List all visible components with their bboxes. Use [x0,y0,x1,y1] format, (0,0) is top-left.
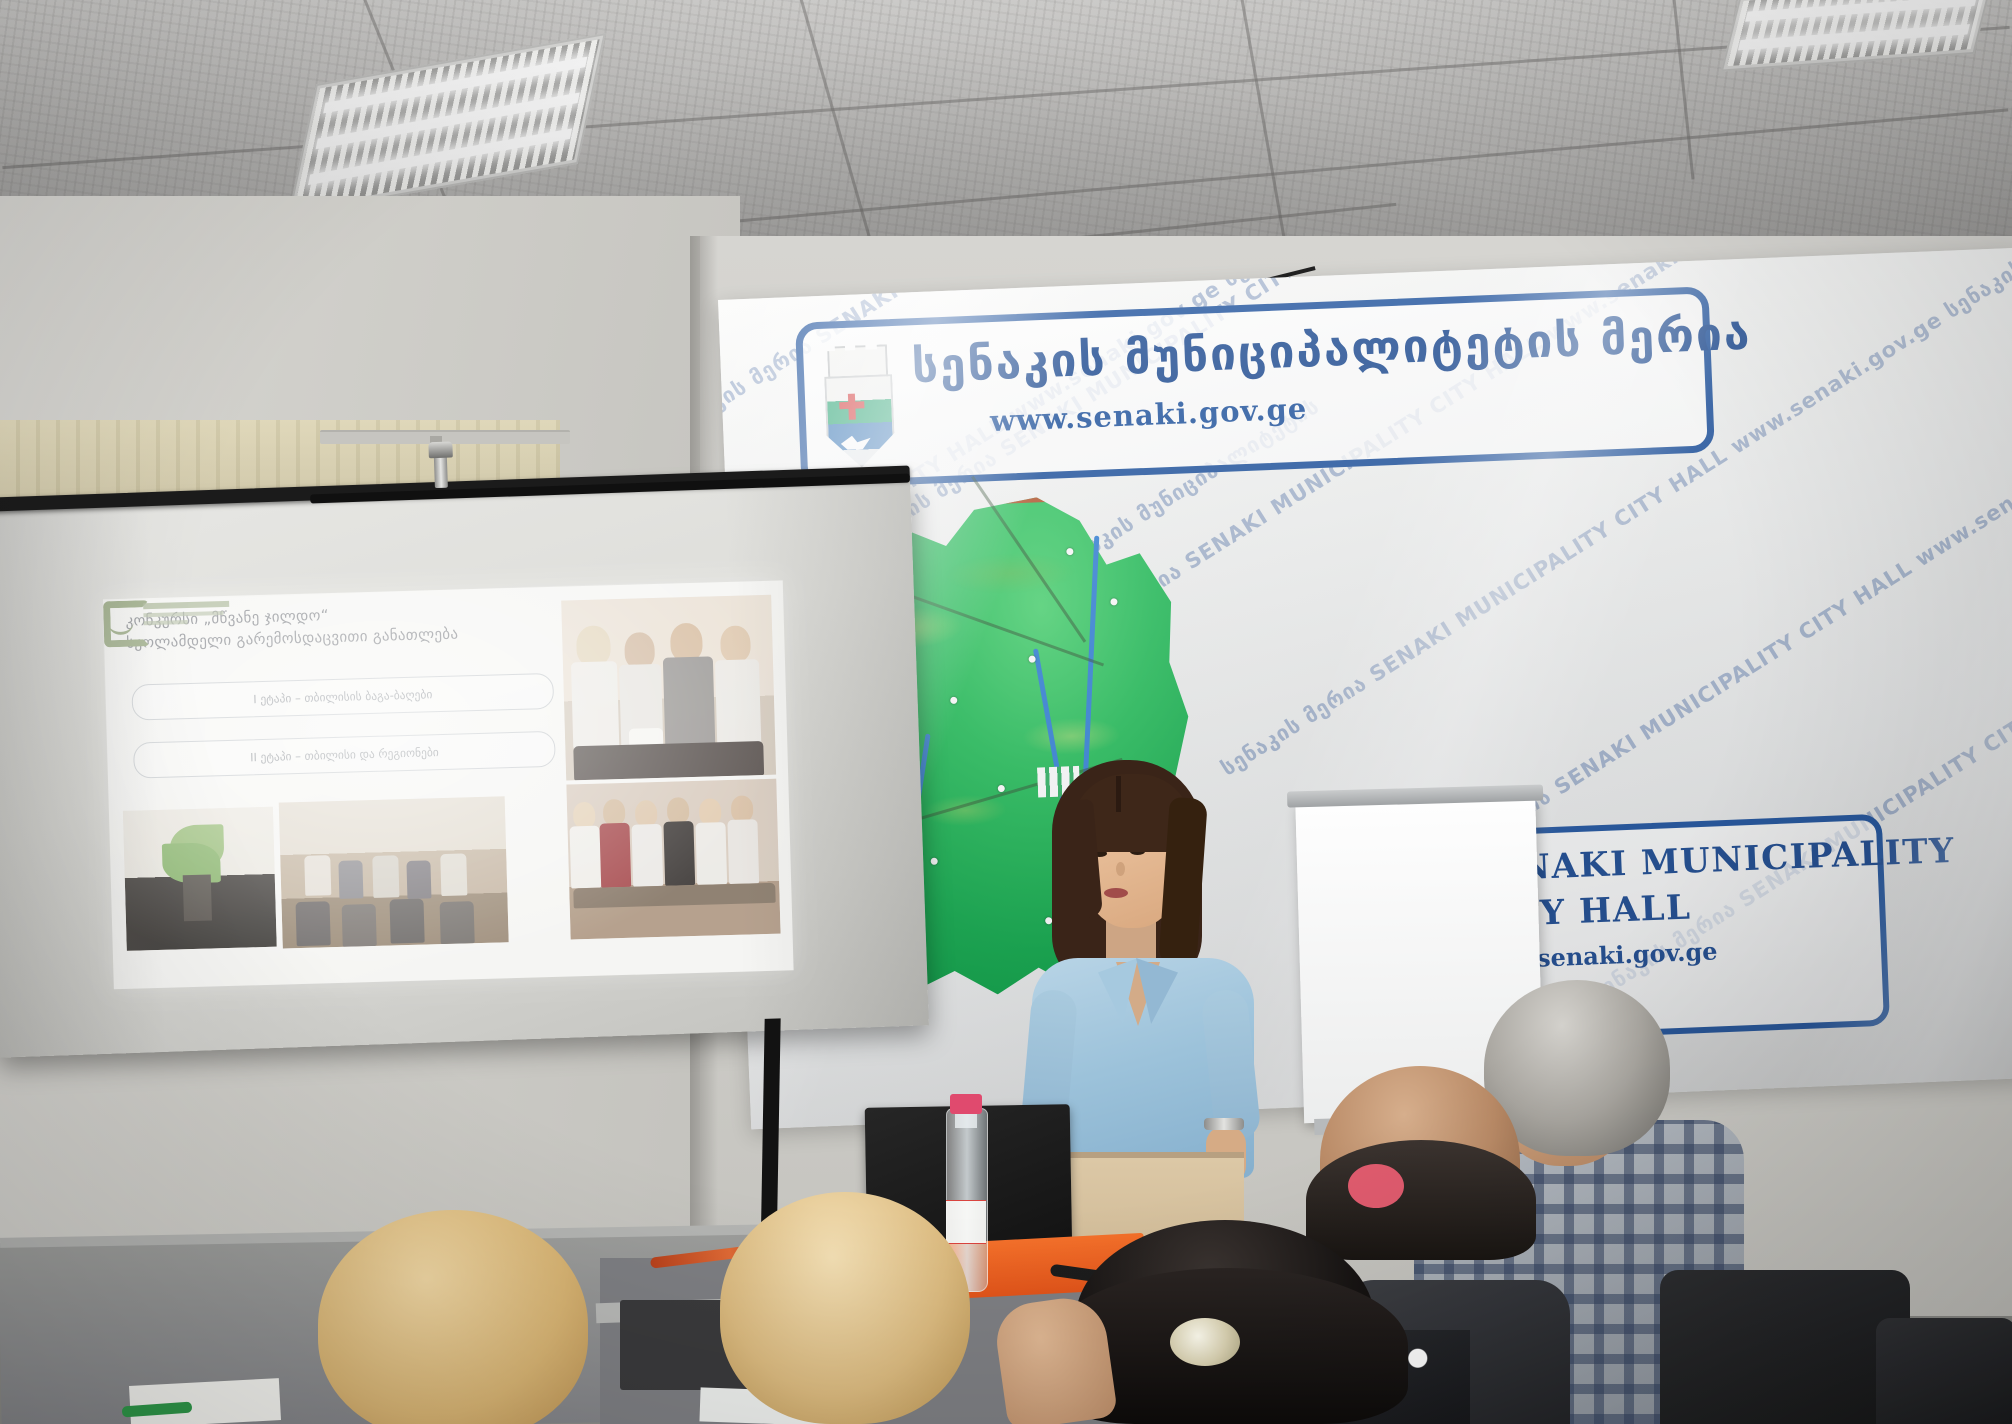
presenter-mouth [1104,888,1128,898]
audience-head-blonde-woman-center [720,1192,970,1424]
audience-head-blonde-woman-left [318,1210,588,1424]
audience-hair-balding-man [1306,1140,1536,1260]
bottle-cap[interactable] [950,1094,982,1114]
printed-handout[interactable] [129,1378,281,1424]
screen-edge-shading [0,478,929,1058]
photo-scene: სენაკის მერია SENAKI MUNICIPALITY CITY H… [0,0,2012,1424]
conference-chair[interactable] [1660,1270,1910,1424]
hair-scrunchie [1348,1164,1404,1208]
screen-hook-icon[interactable] [434,454,448,488]
presenter-nose [1116,862,1125,876]
decorative-hair-clip [1170,1318,1240,1366]
bottle-label [946,1200,986,1244]
presenter-hair-part [1116,776,1121,812]
presenter-wristwatch [1204,1118,1244,1130]
screen-mount-bracket [428,441,453,458]
conference-chair[interactable] [1876,1318,2012,1424]
pull-down-projection-screen: კონკურსი „მწვანე ჯილდო“ სკოლამდელი გარემ… [0,465,942,1137]
